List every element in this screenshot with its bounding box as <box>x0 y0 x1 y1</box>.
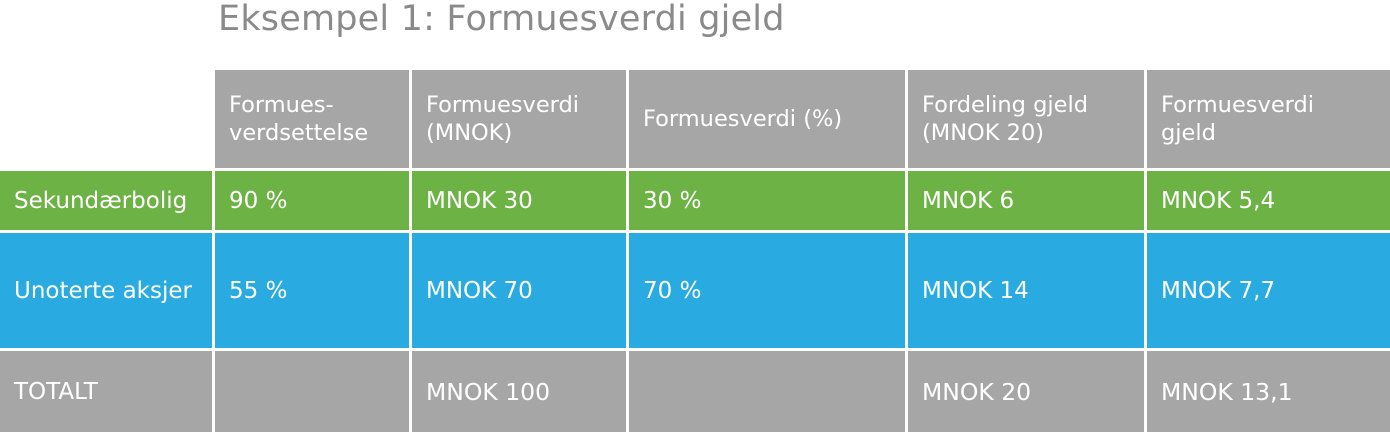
header-line-1: Formuesverdi <box>1161 92 1314 118</box>
cell-total-formuesverdi-mnok: MNOK 100 <box>412 351 629 435</box>
cell-formuesverdi-gjeld: MNOK 5,4 <box>1147 171 1390 233</box>
header-line-1: Formuesverdi <box>426 92 579 118</box>
cell-formuesverdi-prosent: 70 % <box>629 233 908 351</box>
cell-fordeling-gjeld: MNOK 14 <box>908 233 1147 351</box>
header-corner-spacer <box>0 70 215 171</box>
row-label-sekundaerbolig: Sekundærbolig <box>0 171 215 233</box>
header-line-1: Formues- <box>229 92 334 118</box>
header-line-2: gjeld <box>1161 120 1216 146</box>
cell-formuesverdi-gjeld: MNOK 7,7 <box>1147 233 1390 351</box>
header-line-2: (MNOK) <box>426 120 512 146</box>
table-row-total: TOTALT MNOK 100 MNOK 20 MNOK 13,1 <box>0 351 1390 435</box>
row-label-totalt: TOTALT <box>0 351 215 435</box>
cell-formuesverdi-mnok: MNOK 70 <box>412 233 629 351</box>
cell-total-fordeling-gjeld: MNOK 20 <box>908 351 1147 435</box>
cell-formuesverdi-mnok: MNOK 30 <box>412 171 629 233</box>
header-line-2: (MNOK 20) <box>922 120 1044 146</box>
column-header-formuesverdsettelse: Formues- verdsettelse <box>215 70 412 171</box>
column-header-formuesverdi-prosent: Formuesverdi (%) <box>629 70 908 171</box>
cell-verdsettelse: 55 % <box>215 233 412 351</box>
column-header-fordeling-gjeld: Fordeling gjeld (MNOK 20) <box>908 70 1147 171</box>
cell-formuesverdi-prosent-empty <box>629 351 908 435</box>
slide-canvas: Eksempel 1: Formuesverdi gjeld Formues- … <box>0 0 1390 434</box>
cell-total-formuesverdi-gjeld: MNOK 13,1 <box>1147 351 1390 435</box>
cell-fordeling-gjeld: MNOK 6 <box>908 171 1147 233</box>
cell-verdsettelse: 90 % <box>215 171 412 233</box>
cell-formuesverdi-prosent: 30 % <box>629 171 908 233</box>
header-line-2: verdsettelse <box>229 120 368 146</box>
cell-verdsettelse-empty <box>215 351 412 435</box>
column-header-formuesverdi-gjeld: Formuesverdi gjeld <box>1147 70 1390 171</box>
header-line-1: Fordeling gjeld <box>922 92 1088 118</box>
header-line-1: Formuesverdi (%) <box>643 106 842 132</box>
table-row: Unoterte aksjer 55 % MNOK 70 70 % MNOK 1… <box>0 233 1390 351</box>
table-header-row: Formues- verdsettelse Formuesverdi (MNOK… <box>0 70 1390 171</box>
page-title: Eksempel 1: Formuesverdi gjeld <box>218 0 785 42</box>
formuesverdi-table: Formues- verdsettelse Formuesverdi (MNOK… <box>0 70 1390 435</box>
table-row: Sekundærbolig 90 % MNOK 30 30 % MNOK 6 M… <box>0 171 1390 233</box>
row-label-unoterte-aksjer: Unoterte aksjer <box>0 233 215 351</box>
column-header-formuesverdi-mnok: Formuesverdi (MNOK) <box>412 70 629 171</box>
